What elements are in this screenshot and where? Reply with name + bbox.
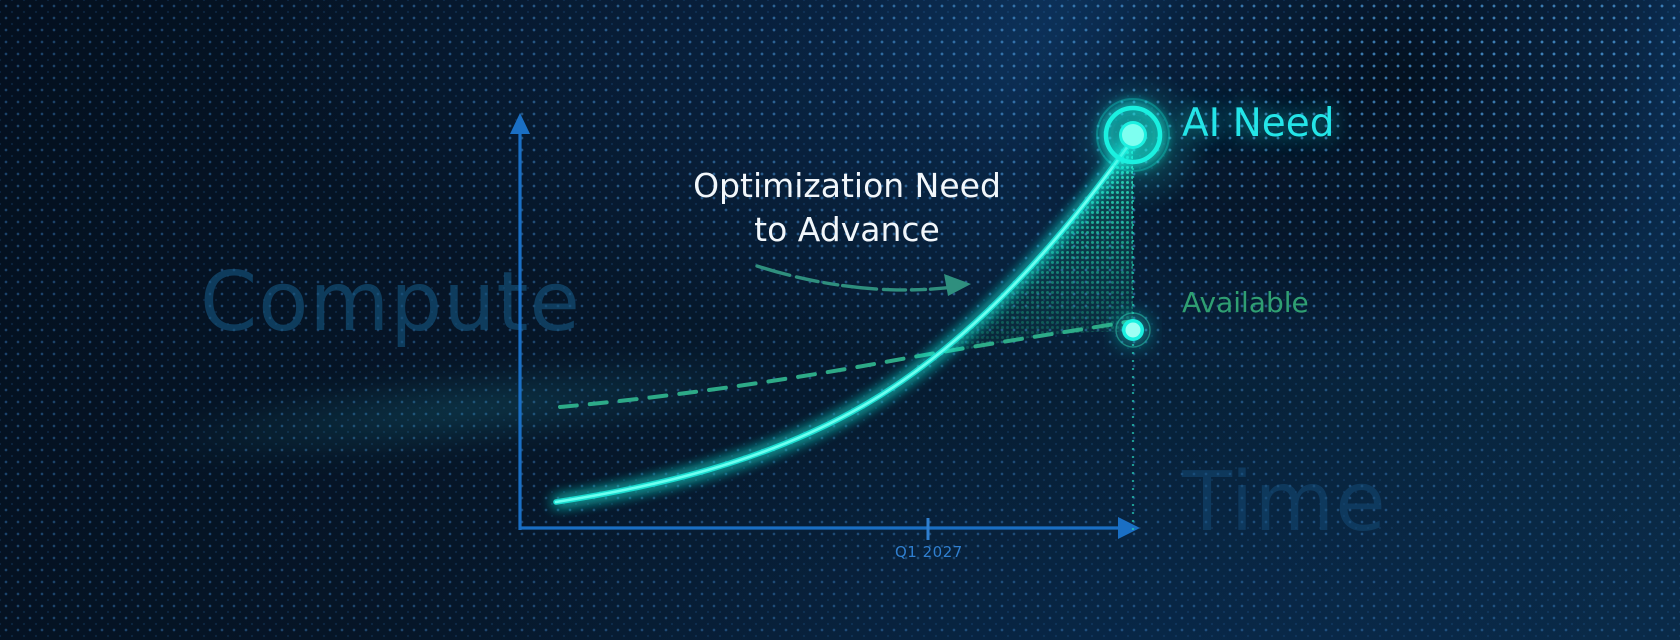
legend-label-available[interactable]: Available	[1182, 286, 1309, 319]
annotation-text: Optimization Need to Advance	[682, 164, 1012, 252]
axis-y	[510, 113, 530, 530]
annotation-line-2: to Advance	[682, 208, 1012, 252]
infographic-canvas: Compute Time	[0, 0, 1680, 640]
curved-arrow-icon	[757, 266, 971, 296]
ring-node-icon[interactable]	[1097, 99, 1169, 171]
available-curve	[560, 321, 1133, 407]
axis-x	[520, 517, 1140, 539]
annotation-line-1: Optimization Need	[682, 164, 1012, 208]
legend-label-ai-need[interactable]: AI Need	[1182, 101, 1335, 146]
chart-svg	[0, 0, 1680, 640]
x-axis-tick-label: Q1 2027	[895, 543, 963, 561]
